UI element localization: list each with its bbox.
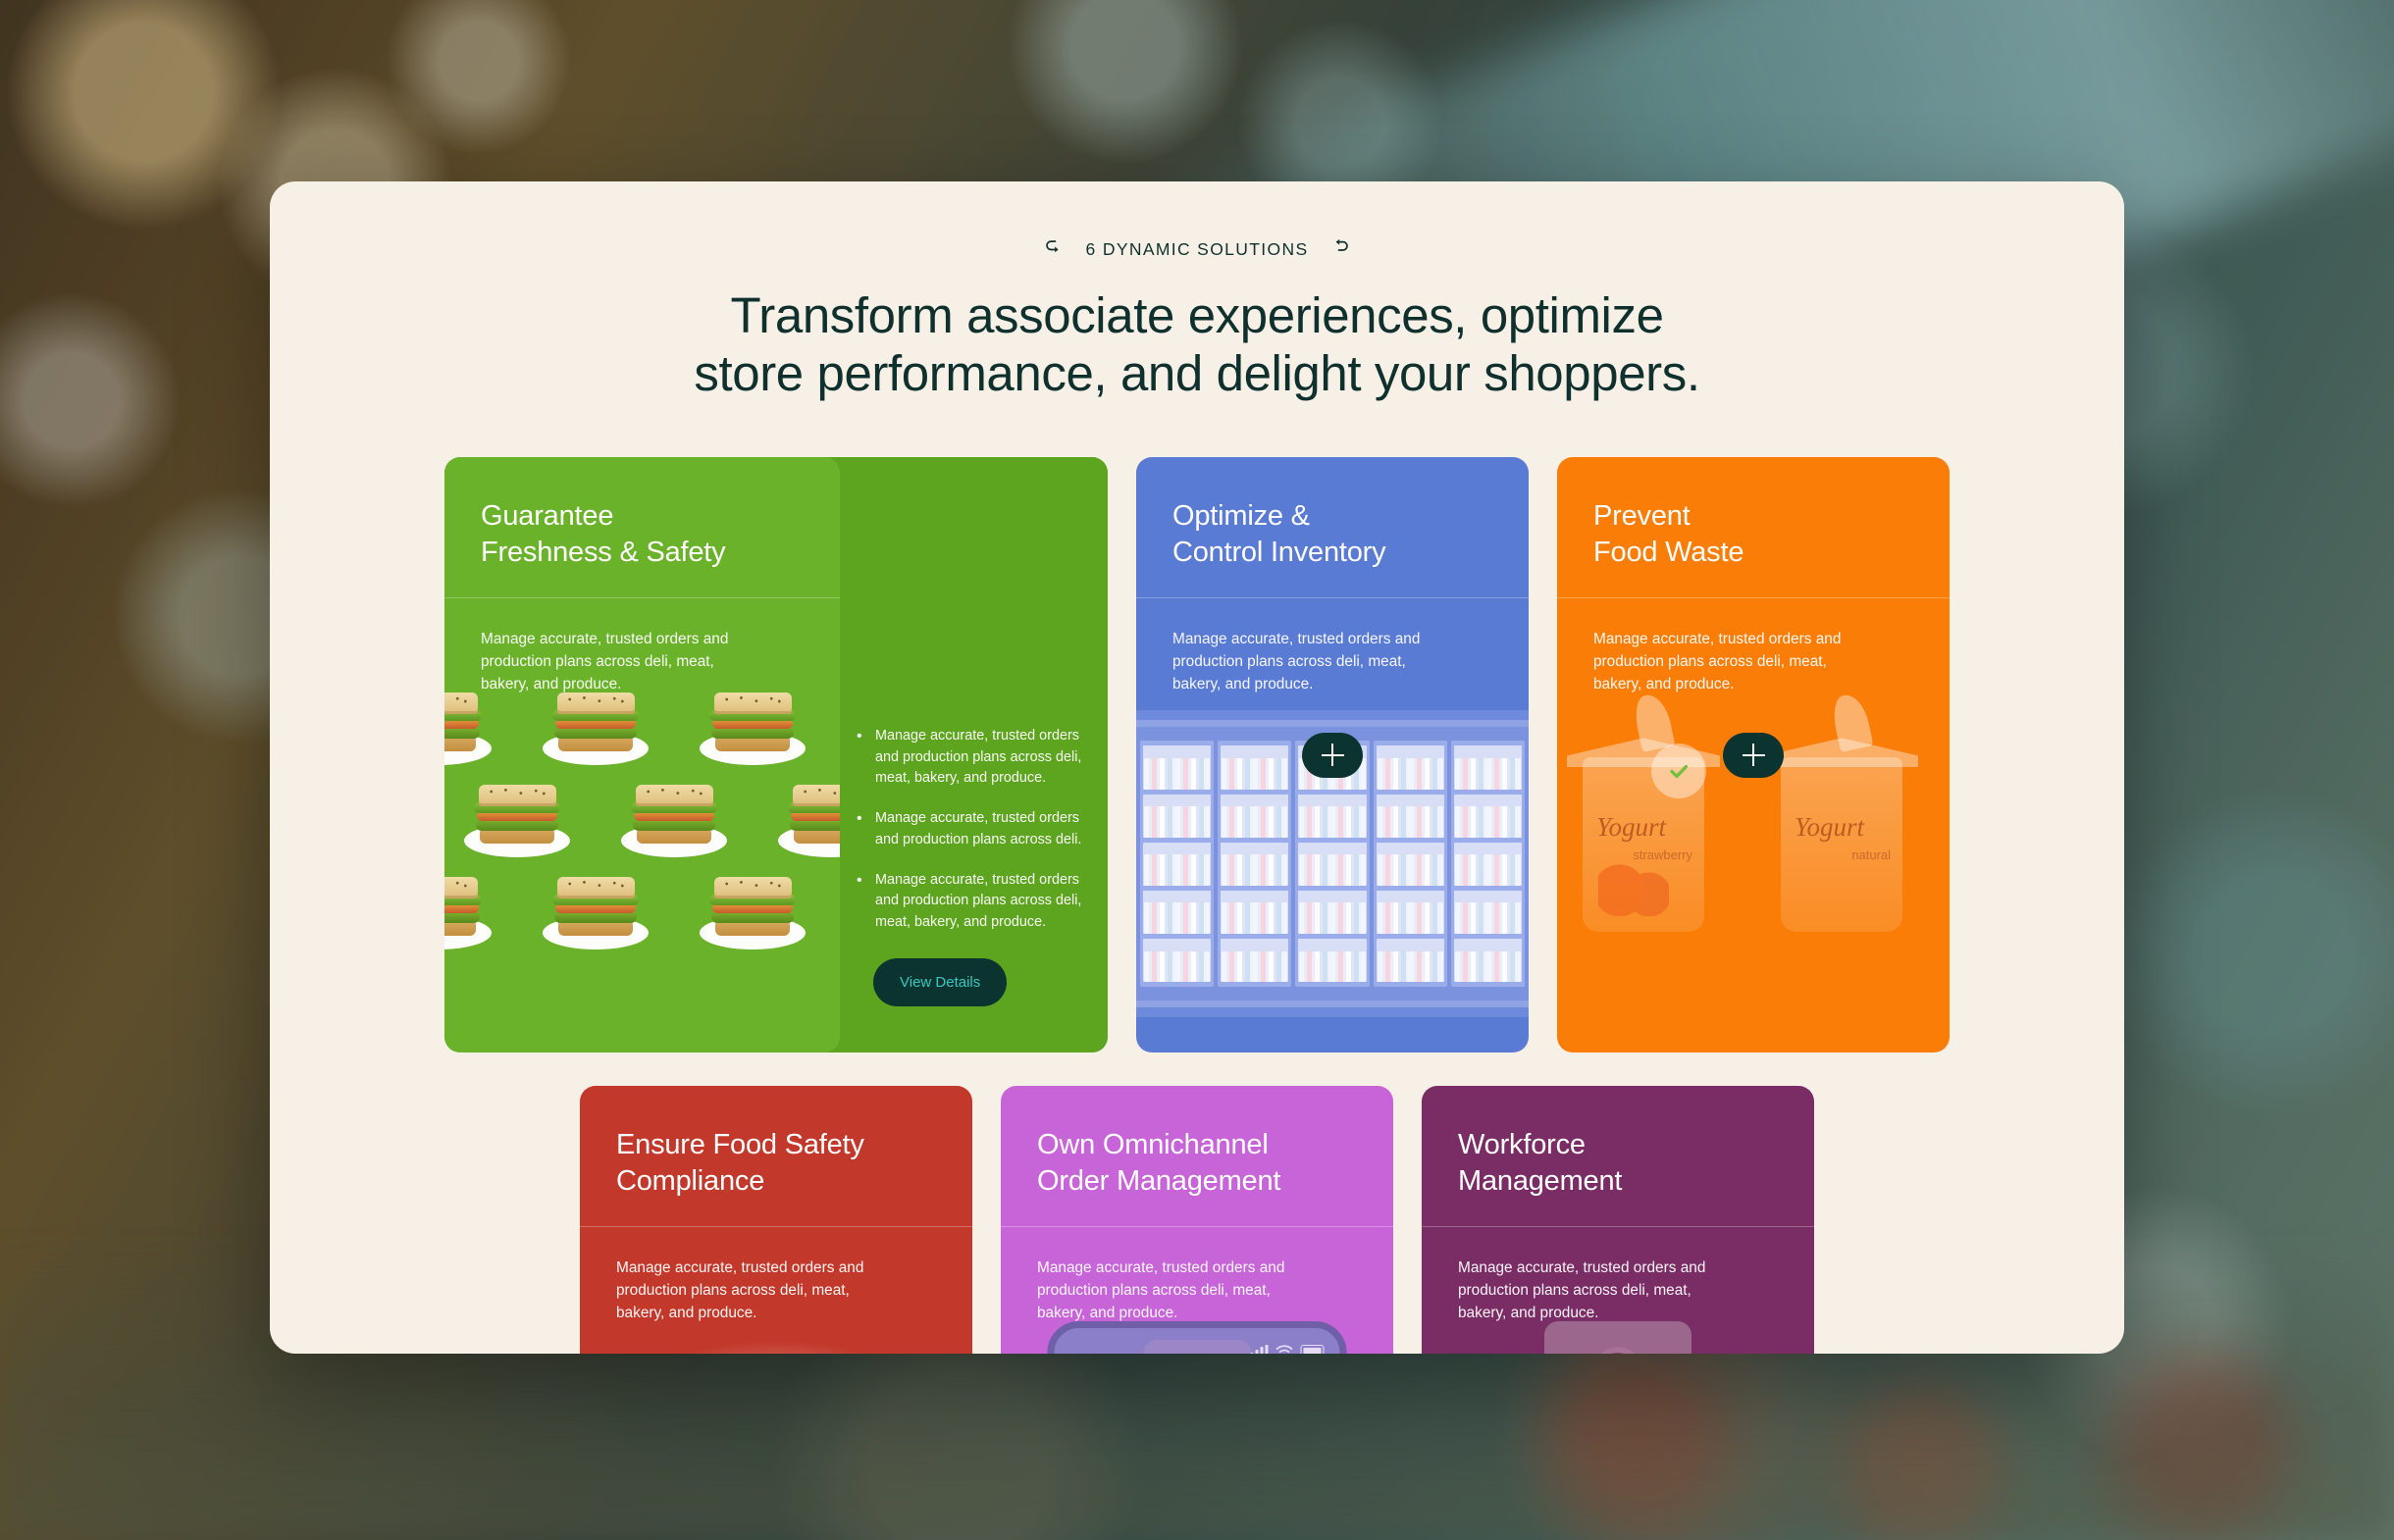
card-own-omnichannel-order-management[interactable]: Own Omnichannel Order Management Manage … bbox=[1001, 1086, 1393, 1354]
compliance-art bbox=[580, 1262, 972, 1354]
card-title: Own Omnichannel Order Management bbox=[1001, 1086, 1393, 1200]
page-title: Transform associate experiences, optimiz… bbox=[270, 286, 2124, 402]
card-optimize-control-inventory[interactable]: Optimize & Control Inventory Manage accu… bbox=[1136, 457, 1529, 1052]
workforce-device-art bbox=[1544, 1321, 1691, 1354]
card-ensure-food-safety-compliance[interactable]: Ensure Food Safety Compliance Manage acc… bbox=[580, 1086, 972, 1354]
phone-status-bar bbox=[1251, 1345, 1325, 1354]
card-body-text: Manage accurate, trusted orders and prod… bbox=[1557, 598, 1881, 695]
check-icon bbox=[1651, 744, 1706, 798]
card-title: Guarantee Freshness & Safety bbox=[444, 457, 840, 571]
undo-arrow-icon bbox=[1329, 237, 1351, 262]
list-item: Manage accurate, trusted orders and prod… bbox=[873, 808, 1082, 850]
card-body-text: Manage accurate, trusted orders and prod… bbox=[1001, 1227, 1325, 1324]
yogurt-cup-natural: Yogurt natural bbox=[1781, 757, 1902, 932]
cup-brand-label: Yogurt bbox=[1795, 812, 1864, 843]
card-body-text: Manage accurate, trusted orders and prod… bbox=[1136, 598, 1460, 695]
headline-line-1: Transform associate experiences, optimiz… bbox=[270, 286, 2124, 344]
sandwich-illustration bbox=[621, 785, 727, 857]
sandwich-illustration bbox=[700, 693, 806, 765]
card-title: Ensure Food Safety Compliance bbox=[580, 1086, 972, 1200]
headline-line-2: store performance, and delight your shop… bbox=[270, 344, 2124, 402]
card-title: Prevent Food Waste bbox=[1557, 457, 1950, 571]
list-item: Manage accurate, trusted orders and prod… bbox=[873, 726, 1082, 789]
cup-brand-label: Yogurt bbox=[1596, 812, 1666, 843]
solutions-grid: Guarantee Freshness & Safety Manage accu… bbox=[270, 457, 2124, 1354]
card-primary-panel: Guarantee Freshness & Safety Manage accu… bbox=[444, 457, 840, 1052]
sandwich-illustration bbox=[543, 877, 649, 950]
card-workforce-management[interactable]: Workforce Management Manage accurate, tr… bbox=[1422, 1086, 1814, 1354]
card-title: Workforce Management bbox=[1422, 1086, 1814, 1200]
card-title: Optimize & Control Inventory bbox=[1136, 457, 1529, 571]
sandwich-illustration bbox=[700, 877, 806, 950]
card-detail-panel: Manage accurate, trusted orders and prod… bbox=[840, 457, 1108, 1052]
plus-icon[interactable] bbox=[1723, 733, 1784, 778]
sandwich-illustration bbox=[543, 693, 649, 765]
sandwich-pattern-art bbox=[444, 693, 840, 1052]
view-details-button[interactable]: View Details bbox=[873, 958, 1007, 1006]
sandwich-illustration bbox=[444, 693, 492, 765]
solutions-row-bottom: Ensure Food Safety Compliance Manage acc… bbox=[270, 1086, 2124, 1354]
card-prevent-food-waste[interactable]: Prevent Food Waste Manage accurate, trus… bbox=[1557, 457, 1950, 1052]
plus-icon[interactable] bbox=[1302, 733, 1363, 778]
sandwich-illustration bbox=[464, 785, 570, 857]
solutions-panel: 6 DYNAMIC SOLUTIONS Transform associate … bbox=[270, 181, 2124, 1354]
phone-mockup-art: Orders bbox=[1048, 1321, 1347, 1354]
sandwich-illustration bbox=[778, 785, 840, 857]
list-item: Manage accurate, trusted orders and prod… bbox=[873, 870, 1082, 933]
solutions-row-top: Guarantee Freshness & Safety Manage accu… bbox=[270, 457, 2124, 1052]
card-bullet-list: Manage accurate, trusted orders and prod… bbox=[840, 696, 1108, 933]
card-guarantee-freshness-safety[interactable]: Guarantee Freshness & Safety Manage accu… bbox=[444, 457, 1108, 1052]
card-body-text: Manage accurate, trusted orders and prod… bbox=[1422, 1227, 1745, 1324]
signal-icon bbox=[1251, 1345, 1269, 1354]
wifi-icon bbox=[1276, 1345, 1293, 1354]
battery-icon bbox=[1301, 1345, 1325, 1354]
cup-flavor-label: natural bbox=[1851, 847, 1891, 862]
redo-arrow-icon bbox=[1043, 237, 1065, 262]
eyebrow: 6 DYNAMIC SOLUTIONS bbox=[270, 237, 2124, 262]
card-body-text: Manage accurate, trusted orders and prod… bbox=[444, 598, 768, 695]
eyebrow-label: 6 DYNAMIC SOLUTIONS bbox=[1086, 239, 1309, 260]
phone-notch bbox=[1143, 1340, 1251, 1354]
sandwich-illustration bbox=[444, 877, 492, 950]
